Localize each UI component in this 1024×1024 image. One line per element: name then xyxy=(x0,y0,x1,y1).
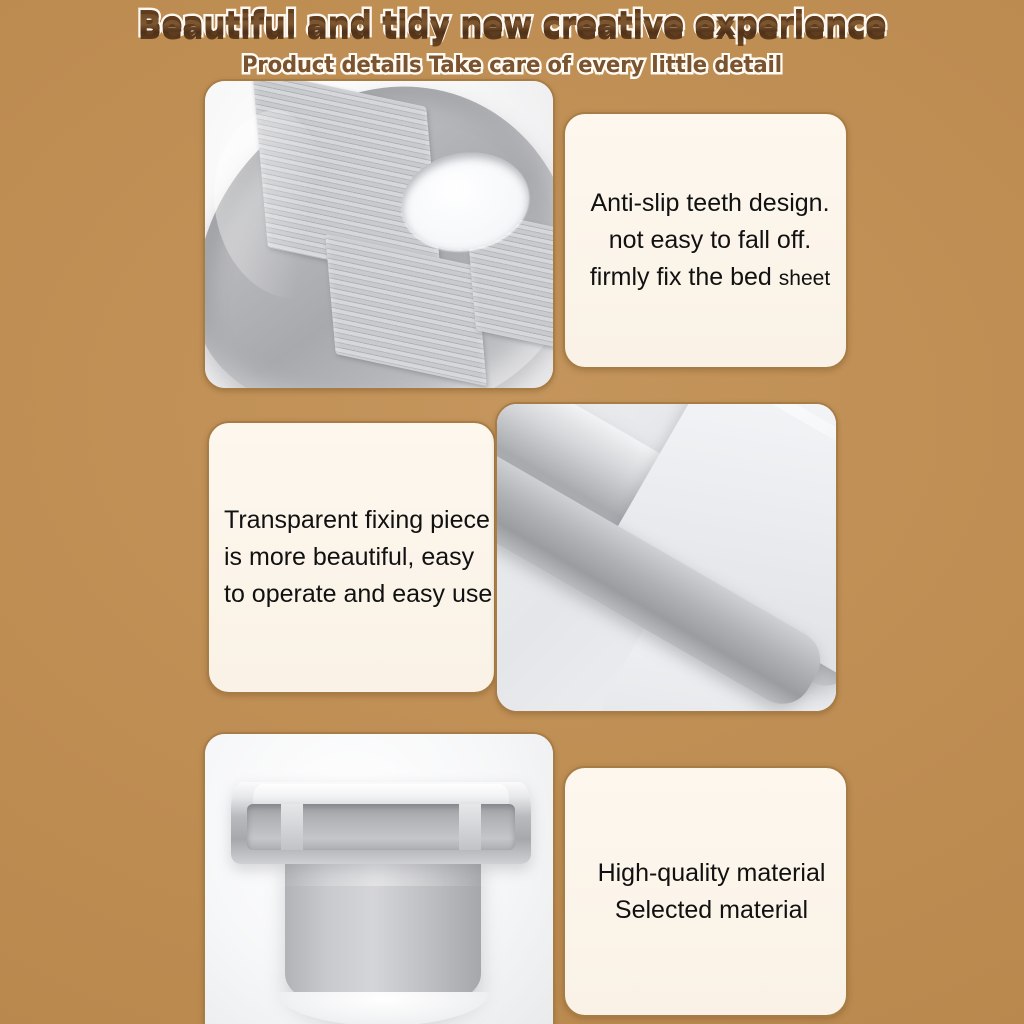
feature-line-1: Anti-slip teeth design. xyxy=(574,185,846,222)
feature-line-2: is more beautiful, easy xyxy=(224,539,494,576)
feature-text-transparent-fixing: Transparent fixing piece is more beautif… xyxy=(207,421,496,694)
feature-line-1: Transparent fixing piece xyxy=(224,502,494,539)
product-image-base xyxy=(205,734,553,1024)
feature-text-anti-slip: Anti-slip teeth design. not easy to fall… xyxy=(563,112,848,369)
base-foot xyxy=(277,992,489,1024)
feature-text-high-quality-material: High-quality material Selected material xyxy=(563,766,848,1017)
feature-line-2: not easy to fall off. xyxy=(574,222,846,259)
product-image-gripper-disc xyxy=(205,81,553,388)
feature-line-3: to operate and easy use xyxy=(224,576,494,613)
feature-line-3-small: sheet xyxy=(779,267,830,290)
feature-line-3: firmly fix the bed sheet xyxy=(574,259,846,297)
feature-photo-high-quality-material xyxy=(203,732,555,1024)
flange-top-edge xyxy=(253,784,509,806)
page-subtitle: Product details Take care of every littl… xyxy=(26,52,999,80)
flange-notch-left xyxy=(281,804,303,850)
flange-groove xyxy=(247,804,515,850)
feature-text-body: Transparent fixing piece is more beautif… xyxy=(209,502,494,613)
base-flange xyxy=(231,782,531,864)
feature-photo-anti-slip xyxy=(203,79,555,390)
flange-notch-right xyxy=(459,804,481,850)
feature-line-3-main: firmly fix the bed xyxy=(590,263,779,291)
header: Beautiful and tidy new creative experien… xyxy=(0,0,1024,82)
feature-text-body: High-quality material Selected material xyxy=(565,855,846,929)
product-image-fixing-clip xyxy=(497,404,836,711)
feature-photo-transparent-fixing xyxy=(495,402,838,713)
feature-line-1: High-quality material xyxy=(577,855,846,892)
feature-line-2: Selected material xyxy=(577,892,846,929)
page-title: Beautiful and tidy new creative experien… xyxy=(36,4,988,44)
feature-text-body: Anti-slip teeth design. not easy to fall… xyxy=(565,185,846,297)
product-infographic-page: Beautiful and tidy new creative experien… xyxy=(0,0,1024,1024)
